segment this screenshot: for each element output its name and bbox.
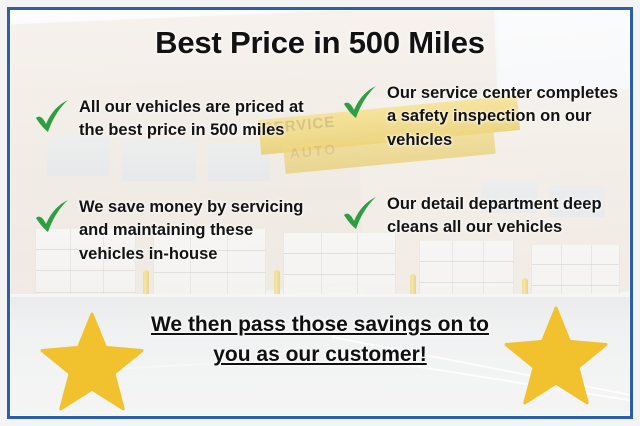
closing-statement: We then pass those savings on to you as … <box>130 310 510 371</box>
star-icon <box>40 312 144 412</box>
poster: SERVICE AUTO <box>0 0 640 426</box>
bullet-text: All our vehicles are priced at the best … <box>79 96 320 143</box>
green-check-icon <box>340 84 380 122</box>
green-check-icon <box>32 198 72 236</box>
bullet-item-save-money: We save money by servicing and maintaini… <box>32 196 320 266</box>
poster-content: Best Price in 500 Miles All our vehicles… <box>10 10 630 416</box>
bullet-item-priced-best: All our vehicles are priced at the best … <box>32 96 320 143</box>
bullet-item-service-center: Our service center completes a safety in… <box>340 82 625 152</box>
poster-frame: SERVICE AUTO <box>7 7 633 419</box>
green-check-icon <box>340 195 380 233</box>
star-icon <box>504 306 608 406</box>
poster-title: Best Price in 500 Miles <box>10 25 630 61</box>
bullet-item-detail-department: Our detail department deep cleans all ou… <box>340 193 625 240</box>
bullet-text: Our detail department deep cleans all ou… <box>387 193 625 240</box>
green-check-icon <box>32 98 72 136</box>
bullet-text: We save money by servicing and maintaini… <box>79 196 320 266</box>
bullet-text: Our service center completes a safety in… <box>387 82 625 152</box>
